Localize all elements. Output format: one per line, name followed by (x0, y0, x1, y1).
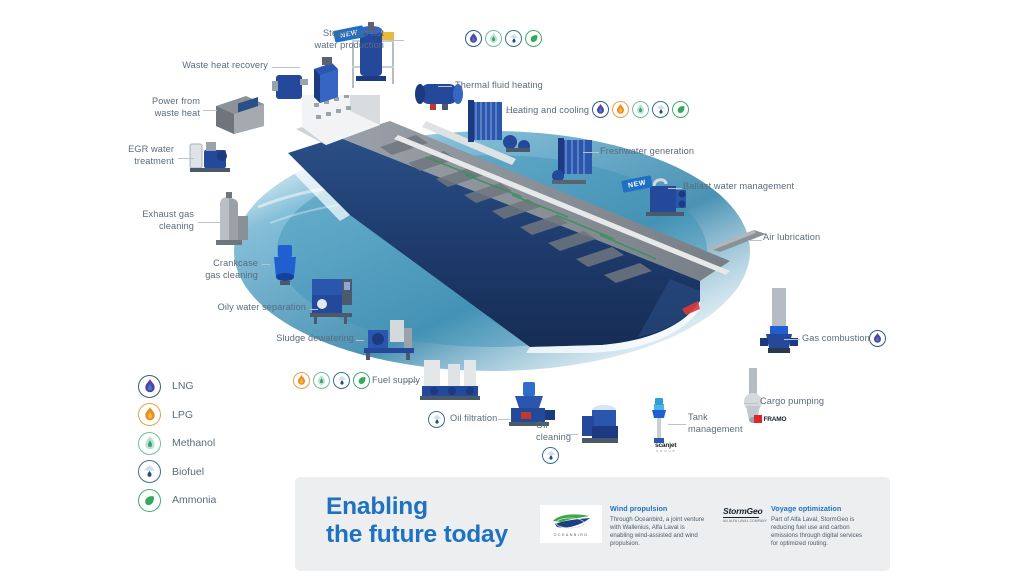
fuel-type-legend: LNG LPG Methanol Biofuel Ammonia (138, 372, 216, 515)
framo-wordmark: FRAMO (764, 416, 787, 423)
legend-label-methanol: Methanol (172, 437, 215, 449)
biofuel-droplet-icon (138, 460, 161, 483)
fuel-badge-biofuel (333, 372, 350, 389)
fuel-badge-ammonia (353, 372, 370, 389)
fuel-badge-methanol (485, 30, 502, 47)
badges-steam-hot-water (465, 30, 542, 47)
callout-air-lubrication[interactable]: Air lubrication (763, 232, 853, 244)
fuel-badge-methanol (313, 372, 330, 389)
equipment-exhaust-gas-cleaning (208, 190, 256, 250)
fuel-badge-lng (869, 330, 886, 347)
callout-freshwater-generation[interactable]: Freshwater generation (600, 146, 720, 158)
stormgeo-logo: StormGeo (723, 506, 763, 516)
legend-item-lpg: LPG (138, 401, 216, 430)
framo-mark (754, 415, 762, 423)
blurb-title-wind: Wind propulsion (610, 504, 705, 513)
blurb-wind-propulsion: Wind propulsion Through Oceanbird, a joi… (610, 504, 705, 548)
fuel-badge-ammonia (672, 101, 689, 118)
leader-waste-heat-recovery (272, 67, 300, 68)
fuel-badge-lpg (293, 372, 310, 389)
blurb-body-wind: Through Oceanbird, a joint venture with … (610, 516, 705, 548)
callout-oil-cleaning[interactable]: Oil cleaning (536, 420, 586, 443)
callout-exhaust-gas-cleaning[interactable]: Exhaust gas cleaning (122, 209, 194, 232)
leader-power-from-waste-heat (203, 110, 217, 111)
fuel-badge-lng (592, 101, 609, 118)
stormgeo-subtext: AN ALFA LAVAL COMPANY (723, 519, 767, 523)
callout-egr-water-treatment[interactable]: EGR water treatment (100, 144, 174, 167)
fuel-badge-biofuel (652, 101, 669, 118)
oceanbird-mark (549, 512, 593, 532)
oceanbird-logo: OCEANBIRD (540, 505, 602, 543)
callout-sludge-dewatering[interactable]: Sludge dewatering (262, 333, 354, 345)
callout-waste-heat-recovery[interactable]: Waste heat recovery (150, 60, 268, 72)
equipment-air-lubrication (706, 228, 768, 254)
leader-sludge-dewatering (356, 340, 364, 341)
callout-heating-and-cooling[interactable]: Heating and cooling (506, 105, 602, 117)
badges-gas-combustion (869, 330, 886, 347)
leader-cargo-pumping (744, 403, 758, 404)
leader-gas-combustion (784, 339, 800, 340)
scanjet-subtext: G R O U P (655, 449, 676, 453)
leader-air-lubrication (748, 240, 762, 241)
leader-oily-water-separation (310, 309, 318, 310)
callout-cargo-pumping[interactable]: Cargo pumping (760, 396, 850, 408)
fuel-badge-biofuel (428, 411, 445, 428)
leader-ballast-water (668, 188, 682, 189)
banner-headline: Enabling the future today (326, 493, 508, 549)
callout-tank-management[interactable]: Tank management (688, 412, 758, 435)
badges-oil-filtration (428, 411, 445, 428)
badges-fuel-supply (293, 372, 370, 389)
legend-label-lpg: LPG (172, 409, 193, 421)
fuel-badge-ammonia (525, 30, 542, 47)
equipment-power-from-waste-heat (212, 94, 268, 136)
callout-ballast-water-management[interactable]: Ballast water management (683, 181, 823, 193)
fuel-badge-biofuel (542, 447, 559, 464)
equipment-sludge-dewatering (360, 318, 416, 362)
equipment-gas-combustion (758, 288, 800, 356)
callout-fuel-supply[interactable]: Fuel supply (372, 375, 452, 387)
equipment-freshwater-generation (548, 138, 606, 188)
legend-item-lng: LNG (138, 372, 216, 401)
legend-item-methanol: Methanol (138, 429, 216, 458)
equipment-oily-water-separation (308, 275, 356, 325)
equipment-waste-heat-recovery (270, 55, 344, 111)
bottom-banner: Enabling the future today OCEANBIRD Wind… (295, 477, 890, 571)
legend-item-biofuel: Biofuel (138, 458, 216, 487)
callout-power-from-waste-heat[interactable]: Power from waste heat (118, 96, 200, 119)
leader-freshwater-generation (583, 152, 599, 153)
methanol-leaf-drop-icon (138, 432, 161, 455)
leader-crankcase (262, 264, 270, 265)
equipment-crankcase-gas-cleaning (268, 243, 302, 285)
callout-crankcase-gas-cleaning[interactable]: Crankcase gas cleaning (186, 258, 258, 281)
scanjet-wordmark: scanjet (655, 442, 676, 449)
fuel-badge-lng (465, 30, 482, 47)
lng-flame-icon (138, 375, 161, 398)
legend-label-ammonia: Ammonia (172, 494, 216, 506)
legend-label-lng: LNG (172, 380, 194, 392)
blurb-title-voyage: Voyage optimization (771, 504, 866, 513)
badges-oil-cleaning (542, 447, 559, 464)
leader-steam-hot-water (388, 40, 404, 41)
leader-thermal-fluid-heating (438, 86, 452, 87)
blurb-body-voyage: Part of Alfa Laval, StormGeo is reducing… (771, 516, 866, 548)
equipment-egr-water-treatment (186, 136, 236, 176)
leader-exhaust-gas-cleaning (198, 222, 220, 223)
callout-oil-filtration[interactable]: Oil filtration (450, 413, 530, 425)
callout-oily-water-separation[interactable]: Oily water separation (202, 302, 306, 314)
ammonia-leaf-icon (138, 489, 161, 512)
equipment-tank-management (646, 396, 672, 446)
blurb-voyage-optimization: Voyage optimization Part of Alfa Laval, … (771, 504, 866, 548)
fuel-badge-biofuel (505, 30, 522, 47)
fuel-badge-lpg (612, 101, 629, 118)
callout-thermal-fluid-heating[interactable]: Thermal fluid heating (455, 80, 575, 92)
fuel-badge-methanol (632, 101, 649, 118)
oceanbird-wordmark: OCEANBIRD (554, 533, 589, 537)
badges-heating-and-cooling (592, 101, 689, 118)
legend-label-biofuel: Biofuel (172, 466, 204, 478)
leader-egr-water-treatment (178, 158, 194, 159)
infographic-canvas: NEW NEW Waste heat recovery Power from w… (0, 0, 1024, 577)
legend-item-ammonia: Ammonia (138, 486, 216, 515)
lpg-flame-icon (138, 403, 161, 426)
leader-tank-management (668, 424, 686, 425)
brand-framo: FRAMO (754, 415, 786, 423)
brand-scanjet: scanjet G R O U P (655, 442, 676, 453)
callout-steam-hot-water[interactable]: Steam and hot water production (296, 28, 384, 51)
